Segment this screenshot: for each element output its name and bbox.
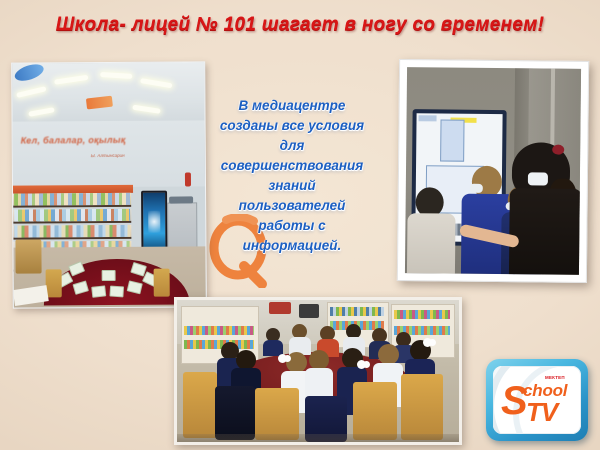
presentation-slide: Школа- лицей № 101 шагает в ногу со врем…: [0, 0, 600, 450]
photo-library-interior: Кел, балалар, оқылық Ы. Алтынсарин: [11, 61, 207, 308]
library-wall-text: Кел, балалар, оқылық: [21, 135, 126, 146]
message-line: для: [196, 136, 388, 156]
logo-inner-panel: МЕКТЕП S chool TV: [493, 366, 581, 434]
logo-tiny-text: МЕКТЕП: [545, 376, 565, 381]
library-wall-subtext: Ы. Алтынсарин: [91, 153, 125, 158]
logo-word-tv: TV: [526, 399, 557, 425]
school-tv-logo[interactable]: МЕКТЕП S chool TV: [486, 359, 588, 441]
message-line: знаний: [196, 176, 388, 196]
message-line: пользователей: [196, 196, 388, 216]
message-line: работы с: [196, 216, 388, 236]
slide-title-bar: Школа- лицей № 101 шагает в ногу со врем…: [0, 14, 600, 36]
message-line: В медиацентре: [196, 96, 388, 116]
message-line: совершенствования: [196, 156, 388, 176]
page-title: Школа- лицей № 101 шагает в ногу со врем…: [56, 14, 544, 36]
center-message: В медиацентре созданы все условия для со…: [196, 96, 388, 256]
photo-round-table-reading: [174, 297, 462, 445]
message-line: информацией.: [196, 236, 388, 256]
message-line: созданы все условия: [196, 116, 388, 136]
photo-interactive-whiteboard: [397, 59, 589, 283]
